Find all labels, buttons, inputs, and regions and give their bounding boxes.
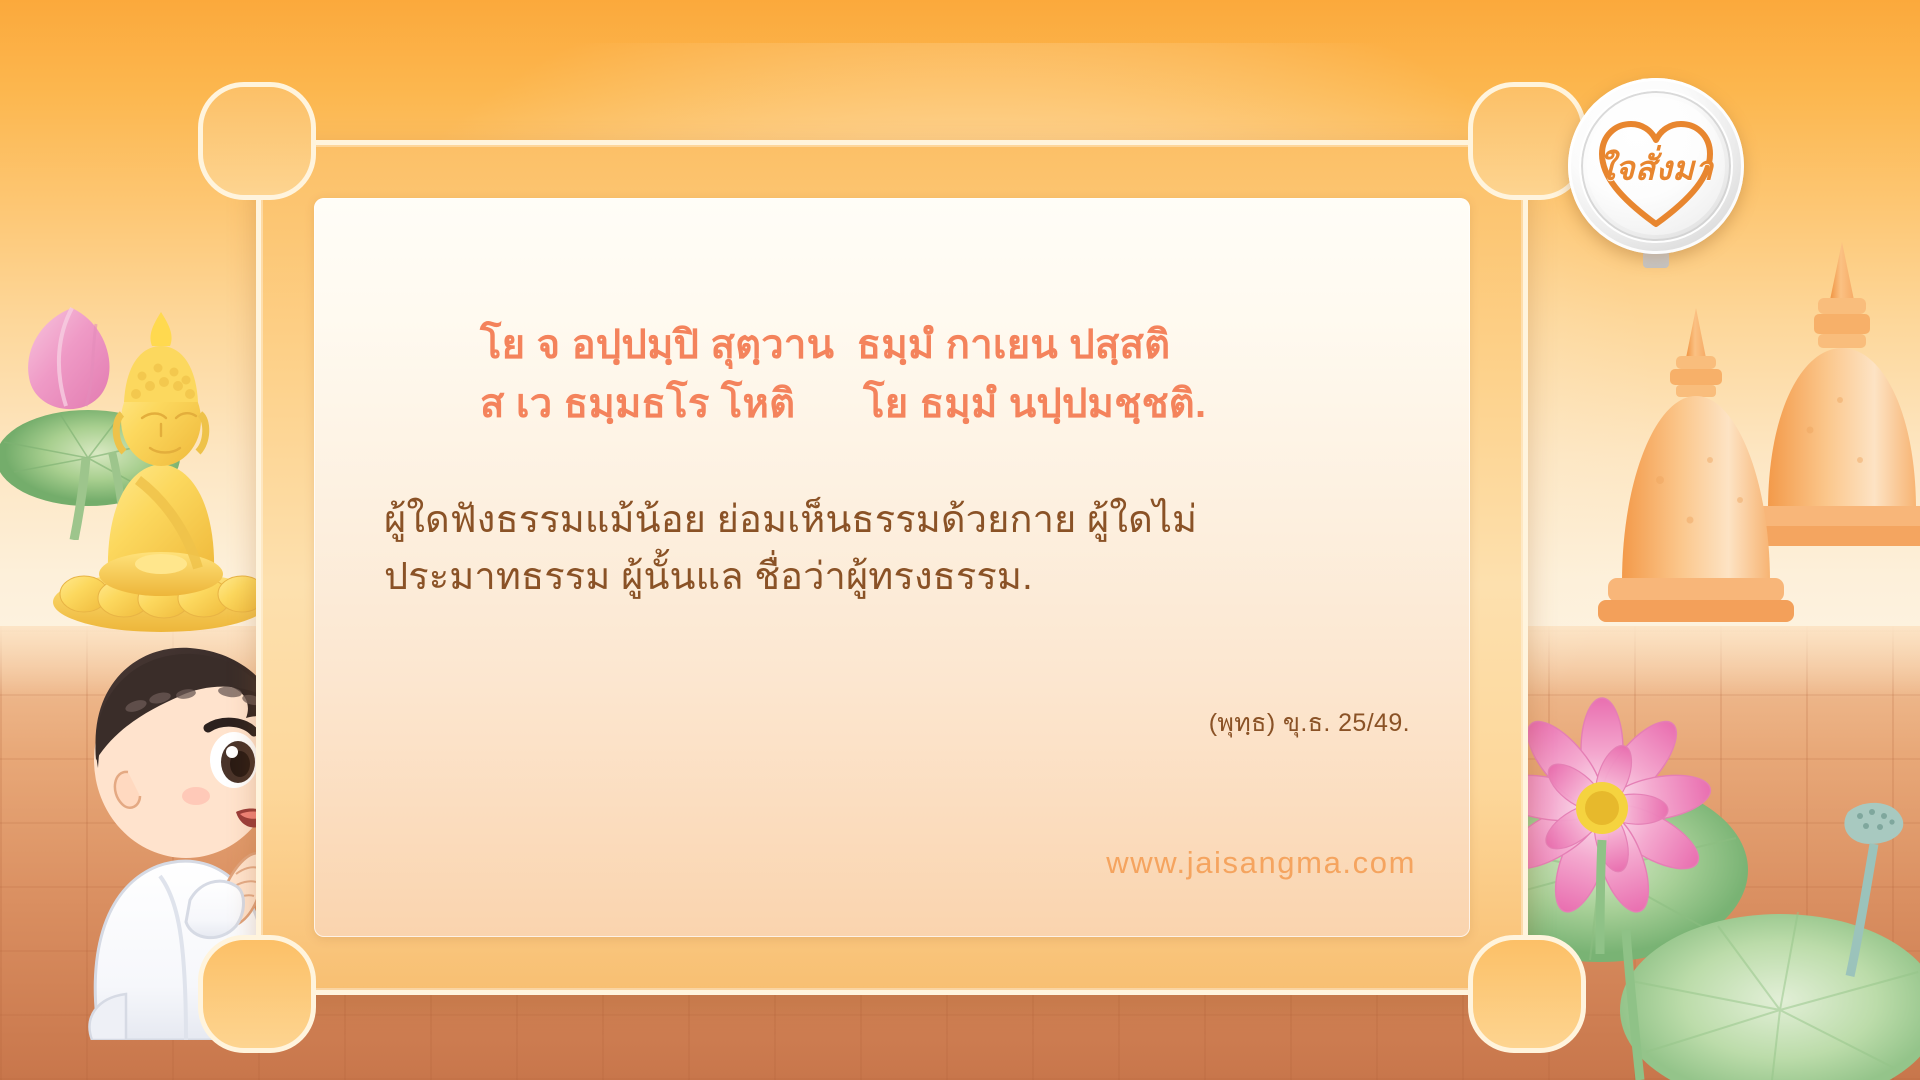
source-citation: (พุทฺธ) ขุ.ธ. 25/49. bbox=[1209, 703, 1410, 743]
pali-line-1: โย จ อปฺปมฺปิ สุตฺวาน ธมฺมํ กาเยน ปสฺสติ bbox=[480, 316, 1414, 375]
quote-card: โย จ อปฺปมฺปิ สุตฺวาน ธมฺมํ กาเยน ปสฺสติ… bbox=[256, 140, 1528, 995]
thai-translation: ผู้ใดฟังธรรมแม้น้อย ย่อมเห็นธรรมด้วยกาย … bbox=[384, 492, 1324, 604]
card-corner-top-left bbox=[198, 82, 316, 200]
website-url[interactable]: www.jaisangma.com bbox=[1106, 845, 1416, 881]
pali-line-2: ส เว ธมฺมธโร โหติ โย ธมฺมํ นปฺปมชฺชติ. bbox=[480, 375, 1414, 434]
quote-content: โย จ อปฺปมฺปิ สุตฺวาน ธมฺมํ กาเยน ปสฺสติ… bbox=[384, 316, 1414, 605]
quote-card-canvas: โย จ อปฺปมฺปิ สุตฺวาน ธมฺมํ กาเยน ปสฺสติ… bbox=[0, 0, 1920, 1080]
logo-label: ใจสั่งมา bbox=[1568, 142, 1744, 195]
card-corner-bottom-left bbox=[198, 935, 316, 1053]
jaisangma-logo-badge[interactable]: ใจสั่งมา bbox=[1568, 78, 1744, 254]
card-paper: โย จ อปฺปมฺปิ สุตฺวาน ธมฺมํ กาเยน ปสฺสติ… bbox=[314, 198, 1470, 937]
card-corner-bottom-right bbox=[1468, 935, 1586, 1053]
